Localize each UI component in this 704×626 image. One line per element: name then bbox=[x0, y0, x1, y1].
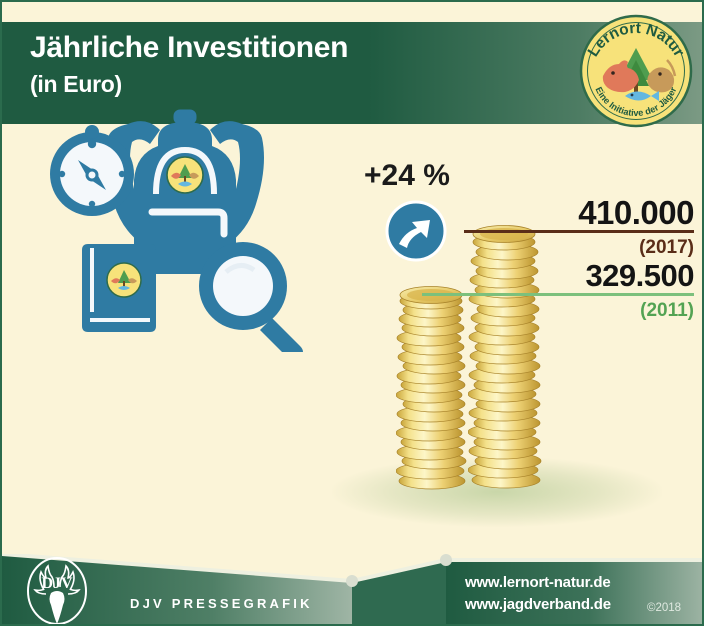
percent-change-label: +24 % bbox=[364, 159, 450, 193]
year-label-2011: (2011) bbox=[432, 300, 694, 322]
value-line-2017 bbox=[464, 230, 694, 233]
title-block: Jährliche Investitionen (in Euro) bbox=[30, 32, 550, 98]
nature-tools-illustration bbox=[40, 102, 330, 352]
page-title: Jährliche Investitionen bbox=[30, 32, 550, 64]
value-2011: 329.500 bbox=[432, 258, 694, 294]
url-lernort-natur[interactable]: www.lernort-natur.de bbox=[465, 572, 611, 594]
url-jagdverband[interactable]: www.jagdverband.de bbox=[465, 594, 611, 616]
footer-urls: www.lernort-natur.de www.jagdverband.de bbox=[465, 572, 611, 616]
value-line-2011 bbox=[422, 293, 694, 296]
year-label-2017: (2017) bbox=[457, 237, 694, 259]
value-2017: 410.000 bbox=[457, 194, 694, 232]
lernort-natur-logo: Lernort Natur Eine Initiative der Jäger bbox=[575, 10, 697, 132]
arrow-up-right-icon bbox=[385, 200, 447, 262]
copyright-label: ©2018 bbox=[647, 602, 681, 614]
page-subtitle: (in Euro) bbox=[30, 71, 550, 98]
djv-deer-logo: DJV bbox=[24, 556, 90, 626]
infographic-root: Jährliche Investitionen (in Euro) bbox=[0, 0, 704, 626]
press-graphic-label: DJV PRESSEGRAFIK bbox=[130, 596, 313, 611]
